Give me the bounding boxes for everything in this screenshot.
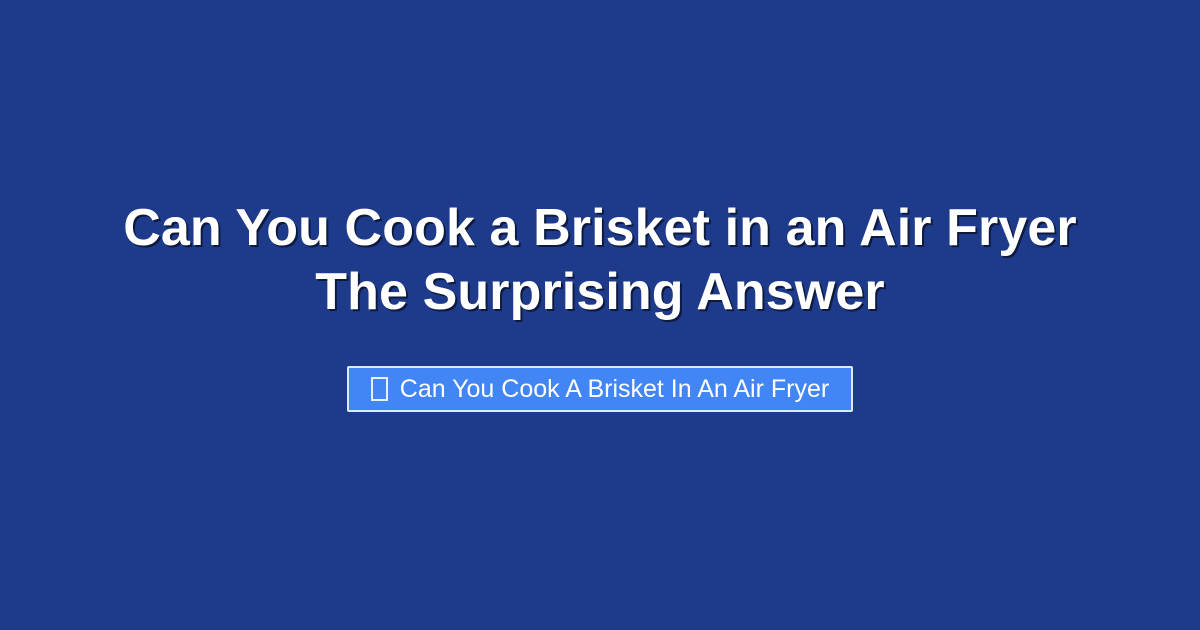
missing-glyph-tofu-icon [371, 377, 388, 401]
keyword-badge-button[interactable]: Can You Cook A Brisket In An Air Fryer [347, 366, 853, 412]
page-title: Can You Cook a Brisket in an Air Fryer T… [120, 196, 1080, 324]
card-content: Can You Cook a Brisket in an Air Fryer T… [0, 196, 1200, 412]
keyword-badge-label: Can You Cook A Brisket In An Air Fryer [400, 377, 829, 402]
open-graph-card: Can You Cook a Brisket in an Air Fryer T… [0, 0, 1200, 630]
